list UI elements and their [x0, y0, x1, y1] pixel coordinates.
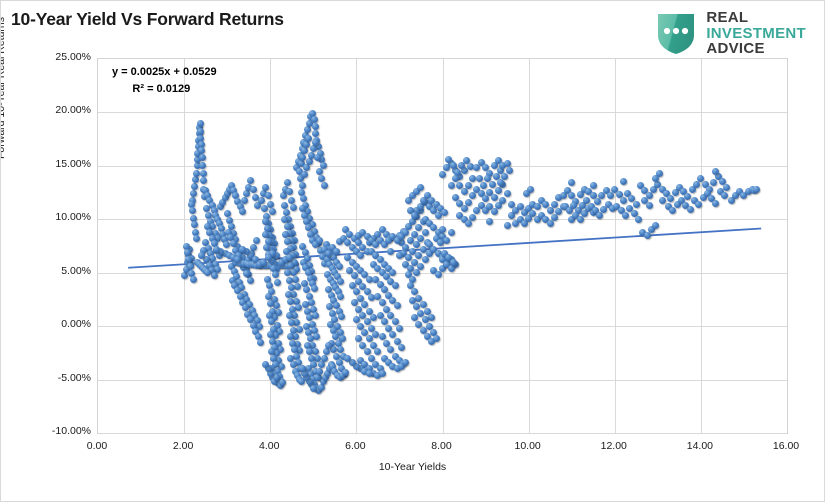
scatter-point	[243, 190, 250, 197]
scatter-point	[284, 179, 291, 186]
scatter-point	[304, 126, 311, 133]
logo-line-real: REAL	[706, 10, 806, 26]
scatter-point	[396, 325, 403, 332]
scatter-point	[325, 342, 332, 349]
scatter-point	[290, 204, 297, 211]
scatter-point	[476, 175, 483, 182]
scatter-point	[344, 355, 351, 362]
scatter-point	[357, 252, 364, 259]
scatter-point	[428, 314, 435, 321]
scatter-point	[551, 201, 558, 208]
gridline-horizontal	[98, 433, 787, 434]
scatter-point	[590, 182, 597, 189]
scatter-point	[272, 271, 279, 278]
scatter-point	[286, 188, 293, 195]
scatter-point	[314, 154, 321, 161]
scatter-point	[336, 263, 343, 270]
scatter-point	[258, 197, 265, 204]
scatter-point	[193, 170, 200, 177]
scatter-point	[312, 312, 319, 319]
scatter-point	[417, 184, 424, 191]
y-axis-tick-label: 10.00%	[29, 211, 91, 223]
scatter-point	[285, 291, 292, 298]
x-axis-tick-label: 10.00	[498, 440, 558, 452]
scatter-point	[411, 314, 418, 321]
scatter-point	[261, 205, 268, 212]
scatter-point	[342, 369, 349, 376]
scatter-point	[413, 269, 420, 276]
scatter-point	[465, 182, 472, 189]
scatter-point	[504, 222, 511, 229]
scatter-point	[284, 269, 291, 276]
scatter-point	[263, 244, 270, 251]
scatter-point	[667, 195, 674, 202]
scatter-point	[198, 252, 205, 259]
scatter-point	[379, 370, 386, 377]
scatter-point	[190, 190, 197, 197]
scatter-point	[223, 241, 230, 248]
scatter-point	[241, 197, 248, 204]
brand-wordmark: REAL INVESTMENT ADVICE	[706, 10, 806, 57]
scatter-point	[448, 229, 455, 236]
scatter-point	[303, 164, 310, 171]
scatter-point	[321, 355, 328, 362]
scatter-point	[213, 246, 220, 253]
scatter-point	[318, 361, 325, 368]
scatter-point	[250, 244, 257, 251]
scatter-point	[389, 331, 396, 338]
regression-annotation: y = 0.0025x + 0.0529 R² = 0.0129	[112, 64, 217, 97]
scatter-point	[413, 241, 420, 248]
scatter-point	[721, 192, 728, 199]
scatter-point	[489, 181, 496, 188]
scatter-point	[469, 214, 476, 221]
scatter-point	[402, 229, 409, 236]
scatter-points	[98, 59, 787, 433]
scatter-point	[310, 385, 317, 392]
scatter-point	[379, 299, 386, 306]
scatter-point	[316, 368, 323, 375]
scatter-point	[506, 167, 513, 174]
scatter-point	[286, 312, 293, 319]
scatter-point	[480, 182, 487, 189]
scatter-point	[491, 208, 498, 215]
scatter-point	[314, 374, 321, 381]
scatter-point	[267, 201, 274, 208]
scatter-point	[260, 259, 267, 266]
scatter-point	[191, 183, 198, 190]
scatter-point	[301, 171, 308, 178]
scatter-point	[305, 135, 312, 142]
scatter-point	[191, 221, 198, 228]
scatter-point	[211, 272, 218, 279]
scatter-point	[239, 246, 246, 253]
scatter-point	[189, 207, 196, 214]
scatter-point	[325, 250, 332, 257]
brand-logo: REAL INVESTMENT ADVICE	[655, 10, 806, 57]
scatter-point	[441, 209, 448, 216]
scatter-point	[652, 222, 659, 229]
scatter-point	[281, 202, 288, 209]
scatter-point	[398, 344, 405, 351]
scatter-point	[435, 271, 442, 278]
x-axis-tick-label: 2.00	[153, 440, 213, 452]
scatter-point	[192, 176, 199, 183]
scatter-point	[199, 154, 206, 161]
scatter-point	[635, 216, 642, 223]
scatter-point	[394, 302, 401, 309]
scatter-point	[687, 206, 694, 213]
scatter-point	[396, 252, 403, 259]
scatter-point	[523, 190, 530, 197]
scatter-point	[422, 256, 429, 263]
scatter-point	[190, 276, 197, 283]
scatter-point	[486, 218, 493, 225]
x-axis-tick-label: 6.00	[325, 440, 385, 452]
scatter-point	[247, 277, 254, 284]
scatter-point	[607, 192, 614, 199]
scatter-point	[193, 235, 200, 242]
scatter-point	[450, 259, 457, 266]
x-axis-title: 10-Year Yields	[1, 461, 824, 473]
scatter-point	[439, 226, 446, 233]
scatter-point	[279, 379, 286, 386]
x-axis-tick-label: 12.00	[584, 440, 644, 452]
scatter-point	[633, 201, 640, 208]
scatter-point	[644, 232, 651, 239]
scatter-point	[469, 192, 476, 199]
scatter-point	[262, 184, 269, 191]
scatter-point	[620, 197, 627, 204]
scatter-point	[499, 197, 506, 204]
scatter-point	[504, 190, 511, 197]
scatter-point	[323, 348, 330, 355]
scatter-point	[622, 212, 629, 219]
scatter-point	[433, 335, 440, 342]
equation-text: y = 0.0025x + 0.0529	[112, 66, 217, 78]
scatter-point	[351, 299, 358, 306]
scatter-point	[312, 139, 319, 146]
scatter-point	[411, 212, 418, 219]
scatter-point	[265, 293, 272, 300]
scatter-point	[257, 339, 264, 346]
y-axis-tick-label: -10.00%	[29, 425, 91, 437]
scatter-point	[482, 195, 489, 202]
scatter-point	[461, 188, 468, 195]
chart-page: 10-Year Yield Vs Forward Returns	[0, 0, 825, 502]
y-axis-tick-label: 0.00%	[29, 318, 91, 330]
r-squared-text: R² = 0.0129	[112, 81, 217, 98]
scatter-point	[200, 177, 207, 184]
scatter-point	[461, 205, 468, 212]
scatter-point	[299, 182, 306, 189]
y-axis-tick-label: 20.00%	[29, 104, 91, 116]
scatter-point	[491, 194, 498, 201]
scatter-point	[274, 279, 281, 286]
scatter-point	[710, 179, 717, 186]
scatter-point	[534, 203, 541, 210]
x-axis-tick-label: 16.00	[756, 440, 816, 452]
scatter-point	[402, 359, 409, 366]
x-axis-tick-label: 4.00	[239, 440, 299, 452]
scatter-point	[669, 207, 676, 214]
scatter-point	[288, 197, 295, 204]
x-axis-tick-label: 8.00	[412, 440, 472, 452]
scatter-point	[695, 201, 702, 208]
scatter-point	[547, 220, 554, 227]
logo-line-investment: INVESTMENT	[706, 26, 806, 42]
scatter-point	[197, 120, 204, 127]
scatter-point	[448, 182, 455, 189]
scatter-point	[265, 192, 272, 199]
y-axis-tick-label: 25.00%	[29, 51, 91, 63]
scatter-point	[337, 293, 344, 300]
scatter-point	[753, 186, 760, 193]
scatter-point	[199, 162, 206, 169]
scatter-point	[269, 208, 276, 215]
scatter-point	[316, 168, 323, 175]
scatter-point	[422, 229, 429, 236]
scatter-point	[306, 158, 313, 165]
page-title: 10-Year Yield Vs Forward Returns	[11, 9, 284, 30]
scatter-point	[282, 231, 289, 238]
y-axis-tick-label: -5.00%	[29, 372, 91, 384]
scatter-point	[374, 348, 381, 355]
scatter-point	[443, 237, 450, 244]
scatter-point	[303, 141, 310, 148]
scatter-point	[417, 263, 424, 270]
x-axis-tick-label: 0.00	[67, 440, 127, 452]
scatter-point	[712, 200, 719, 207]
scatter-point	[723, 184, 730, 191]
y-axis-tick-label: 15.00%	[29, 158, 91, 170]
scatter-point	[239, 208, 246, 215]
scatter-point	[243, 270, 250, 277]
scatter-point	[311, 285, 318, 292]
scatter-point	[286, 277, 293, 284]
scatter-point	[287, 298, 294, 305]
scatter-point	[247, 177, 254, 184]
scatter-point	[387, 346, 394, 353]
x-axis-tick-label: 14.00	[670, 440, 730, 452]
scatter-point	[646, 202, 653, 209]
logo-line-advice: ADVICE	[706, 41, 806, 57]
scatter-point	[392, 282, 399, 289]
scatter-point	[389, 269, 396, 276]
scatter-point	[250, 186, 257, 193]
shield-icon	[655, 11, 697, 55]
scatter-point	[465, 220, 472, 227]
scatter-point	[448, 265, 455, 272]
scatter-point	[366, 370, 373, 377]
scatter-point	[253, 237, 260, 244]
y-axis-title: Forward 10-Year Real Returns	[0, 17, 7, 159]
scatter-point	[495, 187, 502, 194]
scatter-point	[620, 178, 627, 185]
scatter-point	[262, 218, 269, 225]
scatter-point	[568, 179, 575, 186]
plot-area: y = 0.0025x + 0.0529 R² = 0.0129	[97, 58, 788, 434]
scatter-point	[659, 197, 666, 204]
scatter-point	[310, 145, 317, 152]
scatter-point	[301, 147, 308, 154]
scatter-point	[465, 199, 472, 206]
scatter-point	[321, 182, 328, 189]
scatter-point	[187, 263, 194, 270]
scatter-point	[437, 239, 444, 246]
scatter-point	[338, 313, 345, 320]
scatter-point	[184, 249, 191, 256]
y-axis-tick-label: 5.00%	[29, 265, 91, 277]
scatter-point	[200, 170, 207, 177]
scatter-point	[387, 248, 394, 255]
scatter-point	[333, 248, 340, 255]
scatter-point	[439, 171, 446, 178]
scatter-point	[312, 123, 319, 130]
